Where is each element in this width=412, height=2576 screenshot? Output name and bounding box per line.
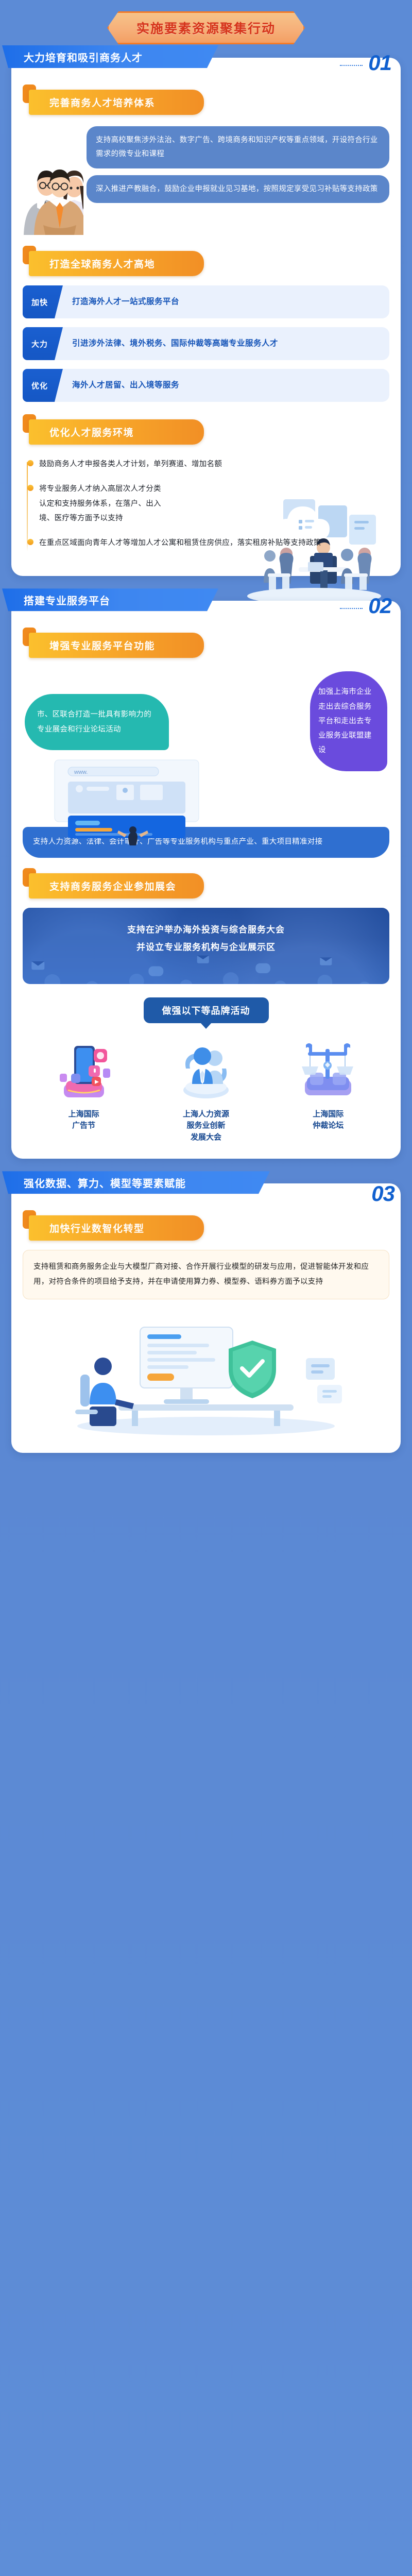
expo-banner-line-2: 并设立专业服务机构与企业展示区 [32,939,380,956]
bullet-item: 在重点区域面向青年人才等增加人才公寓和租赁住房供应，落实租房补贴等支持政策 [26,536,389,561]
section-01: 大力培育和吸引商务人才 01 完善商务人才培养体系 [11,58,401,576]
bullet-item: 将专业服务人才纳入高层次人才分类认定和支持服务体系，在落户、出入境、医疗等方面予… [26,482,389,536]
teal-callout: 市、区联合打造一批具有影响力的专业展会和行业论坛活动 [25,694,169,750]
people-hr-icon [154,1037,257,1104]
web-platform-illustration: www. [49,758,204,845]
section-02: 搭建专业服务平台 02 增强专业服务平台功能 市、区联合打造一批具有影响力的专业… [11,601,401,1159]
section-03-number: 03 [371,1181,394,1206]
brand-item: 上海国际 广告节 [32,1037,135,1144]
section-02-number: 02 [368,594,391,618]
bullet-dot-icon [27,539,33,545]
section-02-title: 搭建专业服务平台 [24,592,110,607]
subheading-service-env: 优化人才服务环境 [23,419,389,445]
section-03: 强化数据、算力、模型等要素赋能 03 加快行业数智化转型 支持租赁和商务服务企业… [11,1183,401,1453]
ai-security-illustration [23,1309,389,1437]
subheading-global-highland: 打造全球商务人才高地 [23,251,389,276]
section-01-card: 完善商务人才培养体系 [11,58,401,576]
bullet-item: 鼓励商务人才申报各类人才计划，单列赛道、增加名额 [26,457,389,482]
expo-banner-line-1: 支持在沪举办海外投资与综合服务大会 [32,921,380,939]
brand-label: 上海人力资源 服务业创新 发展大会 [154,1109,257,1144]
subheading-platform-function: 增强专业服务平台功能 [23,633,389,658]
digital-paragraph: 支持租赁和商务服务企业与大模型厂商对接、合作开展行业模型的研发与应用，促进智能体… [23,1250,389,1299]
people-svg [23,124,83,235]
section-01-header: 大力培育和吸引商务人才 [2,45,218,68]
subheading-expo: 支持商务服务企业参加展会 [23,873,389,899]
section-01-dots [340,65,363,66]
section-02-dots [340,608,363,609]
subheading-talent-system: 完善商务人才培养体系 [23,90,389,115]
expo-heading: 支持商务服务企业参加展会 [29,873,204,899]
tag-row: 优化 海外人才居留、出入境等服务 [23,369,389,402]
talent-system-bubbles: 支持高校聚焦涉外法治、数字广告、跨境商务和知识产权等重点领域，开设符合行业需求的… [87,124,389,203]
main-title-banner: 实施要素资源聚集行动 [107,11,305,44]
scales-svg [295,1037,362,1104]
brand-heading-container: 做强以下等品牌活动 [23,997,389,1023]
expo-banner: 支持在沪举办海外投资与综合服务大会 并设立专业服务机构与企业展示区 [23,908,389,984]
bullet-dot-icon [27,460,33,466]
service-env-heading: 优化人才服务环境 [29,419,204,445]
tag-row: 加快 打造海外人才一站式服务平台 [23,285,389,318]
bullet-dot-icon [27,485,33,491]
subheading-digital: 加快行业数智化转型 [23,1215,389,1241]
talent-bubble-2: 深入推进产教融合，鼓励企业申报就业见习基地，按照规定享受见习补贴等支持政策 [87,175,389,204]
purple-callout: 加强上海市企业走出去综合服务平台和走出去专业服务业联盟建设 [310,671,387,771]
global-highland-heading: 打造全球商务人才高地 [29,251,204,276]
ai-desk-svg [23,1309,389,1437]
bullet-text: 在重点区域面向青年人才等增加人才公寓和租赁住房供应，落实租房补贴等支持政策 [39,536,389,550]
tag-body-text: 海外人才居留、出入境等服务 [55,369,389,402]
three-people-illustration [23,124,83,238]
talent-system-heading: 完善商务人才培养体系 [29,90,204,115]
brand-item: 上海人力资源 服务业创新 发展大会 [154,1037,257,1144]
bullet-text: 将专业服务人才纳入高层次人才分类认定和支持服务体系，在落户、出入境、医疗等方面予… [39,482,168,526]
infographic-page: 实施要素资源聚集行动 大力培育和吸引商务人才 01 完善商务人才培养体系 [0,0,412,2576]
service-env-bullets: 鼓励商务人才申报各类人才计划，单列赛道、增加名额 将专业服务人才纳入高层次人才分… [23,454,389,561]
talent-system-content: 支持高校聚焦涉外法治、数字广告、跨境商务和知识产权等重点领域，开设符合行业需求的… [23,124,389,238]
brand-list: 上海国际 广告节 [23,1037,389,1144]
section-01-number: 01 [368,50,391,75]
talent-bubble-1: 支持高校聚焦涉外法治、数字广告、跨境商务和知识产权等重点领域，开设符合行业需求的… [87,126,389,168]
section-02-header: 搭建专业服务平台 [2,588,218,611]
platform-function-content: 市、区联合打造一批具有影响力的专业展会和行业论坛活动 加强上海市企业走出去综合服… [23,667,389,822]
phone-media-icon [32,1037,135,1104]
section-01-title: 大力培育和吸引商务人才 [24,49,143,64]
brand-item: 上海国际 仲裁论坛 [277,1037,380,1144]
people-hr-svg [173,1037,239,1104]
tag-row: 大力 引进涉外法律、境外税务、国际仲裁等高端专业服务人才 [23,327,389,360]
brand-label: 上海国际 广告节 [32,1109,135,1132]
bullet-text: 鼓励商务人才申报各类人才计划，单列赛道、增加名额 [39,457,389,471]
scales-arbitration-icon [277,1037,380,1104]
digital-heading: 加快行业数智化转型 [29,1215,204,1241]
section-03-header: 强化数据、算力、模型等要素赋能 [2,1171,270,1194]
brand-label: 上海国际 仲裁论坛 [277,1109,380,1132]
svg-text:www.: www. [74,769,88,775]
global-highland-tags: 加快 打造海外人才一站式服务平台 大力 引进涉外法律、境外税务、国际仲裁等高端专… [23,285,389,402]
platform-function-heading: 增强专业服务平台功能 [29,633,204,658]
tag-body-text: 引进涉外法律、境外税务、国际仲裁等高端专业服务人才 [55,327,389,360]
brand-heading: 做强以下等品牌活动 [144,997,269,1023]
platform-svg: www. [49,758,204,845]
tag-body-text: 打造海外人才一站式服务平台 [55,285,389,318]
section-03-card: 加快行业数智化转型 支持租赁和商务服务企业与大模型厂商对接、合作开展行业模型的研… [11,1183,401,1453]
phone-media-svg [50,1037,117,1104]
section-03-title: 强化数据、算力、模型等要素赋能 [24,1175,186,1190]
section-02-card: 增强专业服务平台功能 市、区联合打造一批具有影响力的专业展会和行业论坛活动 加强… [11,601,401,1159]
